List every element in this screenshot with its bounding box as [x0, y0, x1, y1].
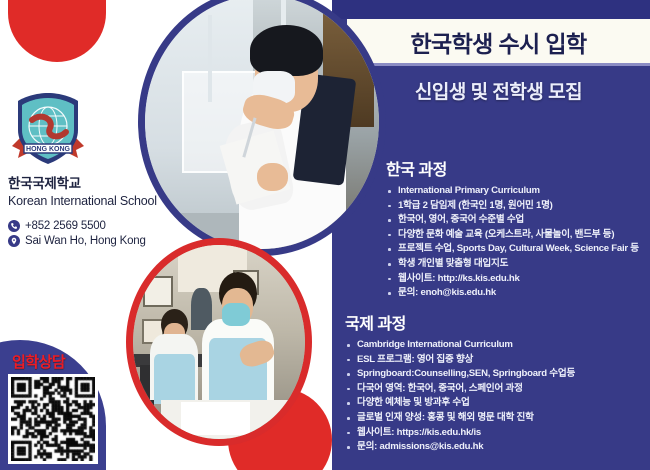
list-item: 한국어, 영어, 중국어 수준별 수업 — [386, 214, 650, 225]
contact-block: +852 2569 5500 Sai Wan Ho, Hong Kong — [8, 220, 208, 250]
photo-art-class — [126, 238, 312, 446]
list-item: Springboard:Counselling,SEN, Springboard… — [345, 368, 650, 379]
school-crest-logo: HONG KONG — [10, 90, 86, 170]
location-pin-icon — [8, 235, 20, 247]
svg-text:HONG KONG: HONG KONG — [26, 146, 71, 153]
section-heading: 국제 과정 — [345, 310, 650, 334]
list-item: ESL 프로그램: 영어 집중 향상 — [345, 354, 650, 365]
list-item: 1학급 2 담임제 (한국인 1명, 원어민 1명) — [386, 200, 650, 211]
section-list: Cambridge International CurriculumESL 프로… — [345, 339, 650, 453]
red-corner-shape — [8, 0, 106, 62]
page-subtitle: 신입생 및 전학생 모집 — [347, 70, 650, 110]
poster-canvas: HONG KONG 한국국제학교 Korean International Sc… — [0, 0, 650, 470]
list-item: Cambridge International Curriculum — [345, 339, 650, 350]
contact-phone-text: +852 2569 5500 — [25, 220, 106, 232]
phone-icon — [8, 220, 20, 232]
list-item: 다양한 예체능 및 방과후 수업 — [345, 397, 650, 408]
contact-location-text: Sai Wan Ho, Hong Kong — [25, 235, 146, 247]
list-item: 학생 개인별 맞춤형 대입지도 — [386, 258, 650, 269]
navy-top-bar — [332, 0, 650, 19]
list-item: International Primary Curriculum — [386, 185, 650, 196]
list-item: 문의: admissions@kis.edu.hk — [345, 441, 650, 452]
list-item: 다국어 영역: 한국어, 중국어, 스페인어 과정 — [345, 383, 650, 394]
section-list: International Primary Curriculum1학급 2 담임… — [386, 185, 650, 299]
school-name-block: 한국국제학교 Korean International School — [8, 176, 198, 209]
section-korean-curriculum: 한국 과정 International Primary Curriculum1학… — [386, 156, 650, 302]
list-item: 웹사이트: http://ks.kis.edu.hk — [386, 273, 650, 284]
qr-label: 입학상담 — [12, 351, 65, 372]
page-title: 한국학생 수시 입학 — [347, 20, 650, 64]
school-name-korean: 한국국제학교 — [8, 176, 198, 193]
list-item: 다양한 문화 예술 교육 (오케스트라, 사물놀이, 밴드부 등) — [386, 229, 650, 240]
contact-location-row[interactable]: Sai Wan Ho, Hong Kong — [8, 235, 208, 247]
contact-phone-row[interactable]: +852 2569 5500 — [8, 220, 208, 232]
list-item: 프로젝트 수업, Sports Day, Cultural Week, Scie… — [386, 243, 650, 254]
section-heading: 한국 과정 — [386, 156, 650, 180]
list-item: 웹사이트: https://kis.edu.hk/is — [345, 427, 650, 438]
qr-code-icon[interactable] — [8, 374, 98, 464]
list-item: 문의: enoh@kis.edu.hk — [386, 287, 650, 298]
school-name-english: Korean International School — [8, 193, 198, 209]
section-international-curriculum: 국제 과정 Cambridge International Curriculum… — [345, 310, 650, 456]
list-item: 글로벌 인재 양성: 홍콩 및 해외 명문 대학 진학 — [345, 412, 650, 423]
